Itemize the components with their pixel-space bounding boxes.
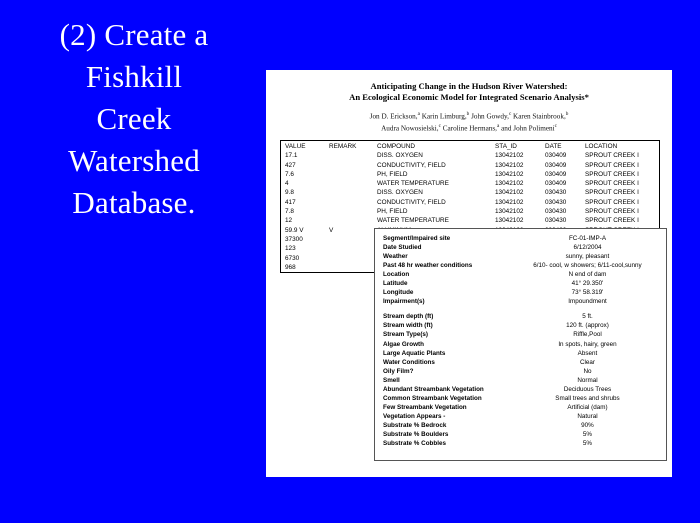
site-row: SmellNormal [383, 376, 659, 385]
site-row-label: Oily Film? [383, 367, 516, 376]
site-row: Stream depth (ft)5 ft. [383, 312, 659, 321]
site-row-value: 6/12/2004 [516, 243, 659, 252]
cell-date: 030430 [545, 198, 585, 207]
site-row-label: Stream depth (ft) [383, 312, 516, 321]
site-row-label: Vegetation Appears - [383, 412, 516, 421]
cell-date: 030430 [545, 188, 585, 197]
site-row: Abundant Streambank VegetationDeciduous … [383, 385, 659, 394]
site-row-label: Stream width (ft) [383, 321, 516, 330]
cell-sta-id: 13042102 [495, 188, 545, 197]
site-row-value: No [516, 367, 659, 376]
site-row-value: 90% [516, 421, 659, 430]
slide-title-line-2: Fishkill [8, 56, 260, 98]
cell-remark [329, 254, 377, 263]
cell-compound: PH, FIELD [377, 170, 495, 179]
site-row: Large Aquatic PlantsAbsent [383, 349, 659, 358]
site-row-value: 73° 58.319' [516, 288, 659, 297]
table-row: 12WATER TEMPERATURE13042102030430SPROUT … [281, 216, 660, 225]
site-row-label: Smell [383, 376, 516, 385]
cell-location: SPROUT CREEK I [585, 207, 660, 216]
document-image: Anticipating Change in the Hudson River … [266, 70, 672, 477]
cell-location: SPROUT CREEK I [585, 170, 660, 179]
table-header-row: VALUE REMARK COMPOUND STA_ID DATE LOCATI… [281, 141, 660, 151]
slide-title-line-3: Creek [8, 98, 260, 140]
cell-value: 6730 [281, 254, 329, 263]
site-row-label: Substrate % Bedrock [383, 421, 516, 430]
site-row-value: Normal [516, 376, 659, 385]
site-row: Longitude73° 58.319' [383, 288, 659, 297]
site-row-value: FC-01-IMP-A [516, 234, 659, 243]
site-row: LocationN end of dam [383, 270, 659, 279]
cell-remark [329, 207, 377, 216]
site-row-value: Clear [516, 358, 659, 367]
site-row-value: 5% [516, 439, 659, 448]
site-row: Latitude41° 29.350' [383, 279, 659, 288]
table-row: 9.8DISS. OXYGEN13042102030430SPROUT CREE… [281, 188, 660, 197]
cell-sta-id: 13042102 [495, 179, 545, 188]
cell-compound: WATER TEMPERATURE [377, 216, 495, 225]
document-title: Anticipating Change in the Hudson River … [266, 81, 672, 103]
slide-title: (2) Create a Fishkill Creek Watershed Da… [8, 14, 260, 224]
cell-value: 59.9 V [281, 226, 329, 235]
table-row: 417CONDUCTIVITY, FIELD13042102030430SPRO… [281, 198, 660, 207]
site-row-value: Artificial (dam) [516, 403, 659, 412]
cell-date: 030409 [545, 179, 585, 188]
site-row-value: N end of dam [516, 270, 659, 279]
site-row-label: Abundant Streambank Vegetation [383, 385, 516, 394]
site-row-label: Stream Type(s) [383, 330, 516, 339]
site-row-label: Latitude [383, 279, 516, 288]
site-row: Few Streambank VegetationArtificial (dam… [383, 403, 659, 412]
site-row: Past 48 hr weather conditions6/10- cool,… [383, 261, 659, 270]
column-header-remark: REMARK [329, 141, 377, 151]
site-row: Segment/Impaired siteFC-01-IMP-A [383, 234, 659, 243]
site-row: Date Studied6/12/2004 [383, 243, 659, 252]
table-row: 7.6PH, FIELD13042102030409SPROUT CREEK I [281, 170, 660, 179]
site-row-value: Absent [516, 349, 659, 358]
cell-date: 030409 [545, 161, 585, 170]
cell-sta-id: 13042102 [495, 198, 545, 207]
column-header-date: DATE [545, 141, 585, 151]
site-row: Water ConditionsClear [383, 358, 659, 367]
site-row-label: Impairment(s) [383, 297, 516, 306]
cell-sta-id: 13042102 [495, 161, 545, 170]
column-header-location: LOCATION [585, 141, 660, 151]
cell-compound: DISS. OXYGEN [377, 151, 495, 160]
cell-compound: CONDUCTIVITY, FIELD [377, 161, 495, 170]
site-row: Stream Type(s)Riffle,Pool [383, 330, 659, 339]
cell-remark [329, 235, 377, 244]
cell-value: 427 [281, 161, 329, 170]
cell-value: 7.8 [281, 207, 329, 216]
cell-value: 968 [281, 263, 329, 272]
site-row-label: Few Streambank Vegetation [383, 403, 516, 412]
cell-location: SPROUT CREEK I [585, 151, 660, 160]
site-row-value: 5% [516, 430, 659, 439]
document-authors-line-2: Audra Nowosielski,c Caroline Hermans,a a… [266, 122, 672, 134]
site-row-label: Date Studied [383, 243, 516, 252]
cell-remark [329, 179, 377, 188]
table-row: 7.8PH, FIELD13042102030430SPROUT CREEK I [281, 207, 660, 216]
cell-remark [329, 216, 377, 225]
site-row: Common Streambank VegetationSmall trees … [383, 394, 659, 403]
cell-location: SPROUT CREEK I [585, 216, 660, 225]
cell-location: SPROUT CREEK I [585, 179, 660, 188]
cell-compound: DISS. OXYGEN [377, 188, 495, 197]
site-row-value: 41° 29.350' [516, 279, 659, 288]
site-row-value: 5 ft. [516, 312, 659, 321]
table-row: 4WATER TEMPERATURE13042102030409SPROUT C… [281, 179, 660, 188]
site-row: Substrate % Bedrock90% [383, 421, 659, 430]
site-row-label: Common Streambank Vegetation [383, 394, 516, 403]
cell-value: 417 [281, 198, 329, 207]
cell-value: 12 [281, 216, 329, 225]
cell-compound: PH, FIELD [377, 207, 495, 216]
table-row: 17.1DISS. OXYGEN13042102030409SPROUT CRE… [281, 151, 660, 160]
cell-date: 030409 [545, 151, 585, 160]
cell-compound: CONDUCTIVITY, FIELD [377, 198, 495, 207]
cell-value: 7.6 [281, 170, 329, 179]
site-row-label: Past 48 hr weather conditions [383, 261, 516, 270]
cell-sta-id: 13042102 [495, 216, 545, 225]
cell-value: 37300 [281, 235, 329, 244]
cell-location: SPROUT CREEK I [585, 188, 660, 197]
site-row-value: Riffle,Pool [516, 330, 659, 339]
cell-compound: WATER TEMPERATURE [377, 179, 495, 188]
site-row-value: sunny, pleasant [516, 252, 659, 261]
site-row-label: Longitude [383, 288, 516, 297]
cell-remark [329, 161, 377, 170]
site-row-value: In spots, hairy, green [516, 340, 659, 349]
cell-sta-id: 13042102 [495, 170, 545, 179]
site-row-label: Substrate % Boulders [383, 430, 516, 439]
site-row: Substrate % Cobbles5% [383, 439, 659, 448]
cell-remark [329, 263, 377, 272]
site-row: Vegetation Appears -Natural [383, 412, 659, 421]
cell-remark [329, 244, 377, 253]
cell-location: SPROUT CREEK I [585, 161, 660, 170]
site-assessment-panel: Segment/Impaired siteFC-01-IMP-ADate Stu… [374, 228, 667, 461]
cell-remark [329, 170, 377, 179]
cell-value: 9.8 [281, 188, 329, 197]
site-row-label: Algae Growth [383, 340, 516, 349]
site-row-label: Water Conditions [383, 358, 516, 367]
site-row-value: Small trees and shrubs [516, 394, 659, 403]
cell-sta-id: 13042102 [495, 151, 545, 160]
column-header-value: VALUE [281, 141, 329, 151]
cell-sta-id: 13042102 [495, 207, 545, 216]
site-assessment-grid: Segment/Impaired siteFC-01-IMP-ADate Stu… [383, 234, 659, 448]
site-row: Substrate % Boulders5% [383, 430, 659, 439]
site-row: Stream width (ft)120 ft. (approx) [383, 321, 659, 330]
site-row-value: Impoundment [516, 297, 659, 306]
cell-value: 17.1 [281, 151, 329, 160]
site-row-label: Weather [383, 252, 516, 261]
table-row: 427CONDUCTIVITY, FIELD13042102030409SPRO… [281, 161, 660, 170]
cell-location: SPROUT CREEK I [585, 198, 660, 207]
site-row-value: 6/10- cool, w showers; 6/11-cool,sunny [516, 261, 659, 270]
cell-remark [329, 151, 377, 160]
cell-remark: V [329, 226, 377, 235]
cell-remark [329, 198, 377, 207]
site-row-label: Large Aquatic Plants [383, 349, 516, 358]
site-row-value: 120 ft. (approx) [516, 321, 659, 330]
document-authors: Jon D. Erickson,a Karin Limburg,b John G… [266, 110, 672, 134]
cell-date: 030430 [545, 207, 585, 216]
document-title-line-2: An Ecological Economic Model for Integra… [266, 92, 672, 103]
cell-remark [329, 188, 377, 197]
site-row-label: Segment/Impaired site [383, 234, 516, 243]
slide-title-line-1: (2) Create a [8, 14, 260, 56]
site-row: Weathersunny, pleasant [383, 252, 659, 261]
site-row: Oily Film?No [383, 367, 659, 376]
site-row: Impairment(s)Impoundment [383, 297, 659, 306]
column-header-compound: COMPOUND [377, 141, 495, 151]
document-title-line-1: Anticipating Change in the Hudson River … [266, 81, 672, 92]
cell-value: 123 [281, 244, 329, 253]
slide-title-line-4: Watershed [8, 140, 260, 182]
document-authors-line-1: Jon D. Erickson,a Karin Limburg,b John G… [266, 110, 672, 122]
site-row-label: Substrate % Cobbles [383, 439, 516, 448]
site-row: Algae GrowthIn spots, hairy, green [383, 340, 659, 349]
cell-date: 030409 [545, 170, 585, 179]
slide-title-line-5: Database. [8, 182, 260, 224]
cell-date: 030430 [545, 216, 585, 225]
cell-value: 4 [281, 179, 329, 188]
site-row-label: Location [383, 270, 516, 279]
site-row-value: Deciduous Trees [516, 385, 659, 394]
column-header-sta-id: STA_ID [495, 141, 545, 151]
site-row-value: Natural [516, 412, 659, 421]
